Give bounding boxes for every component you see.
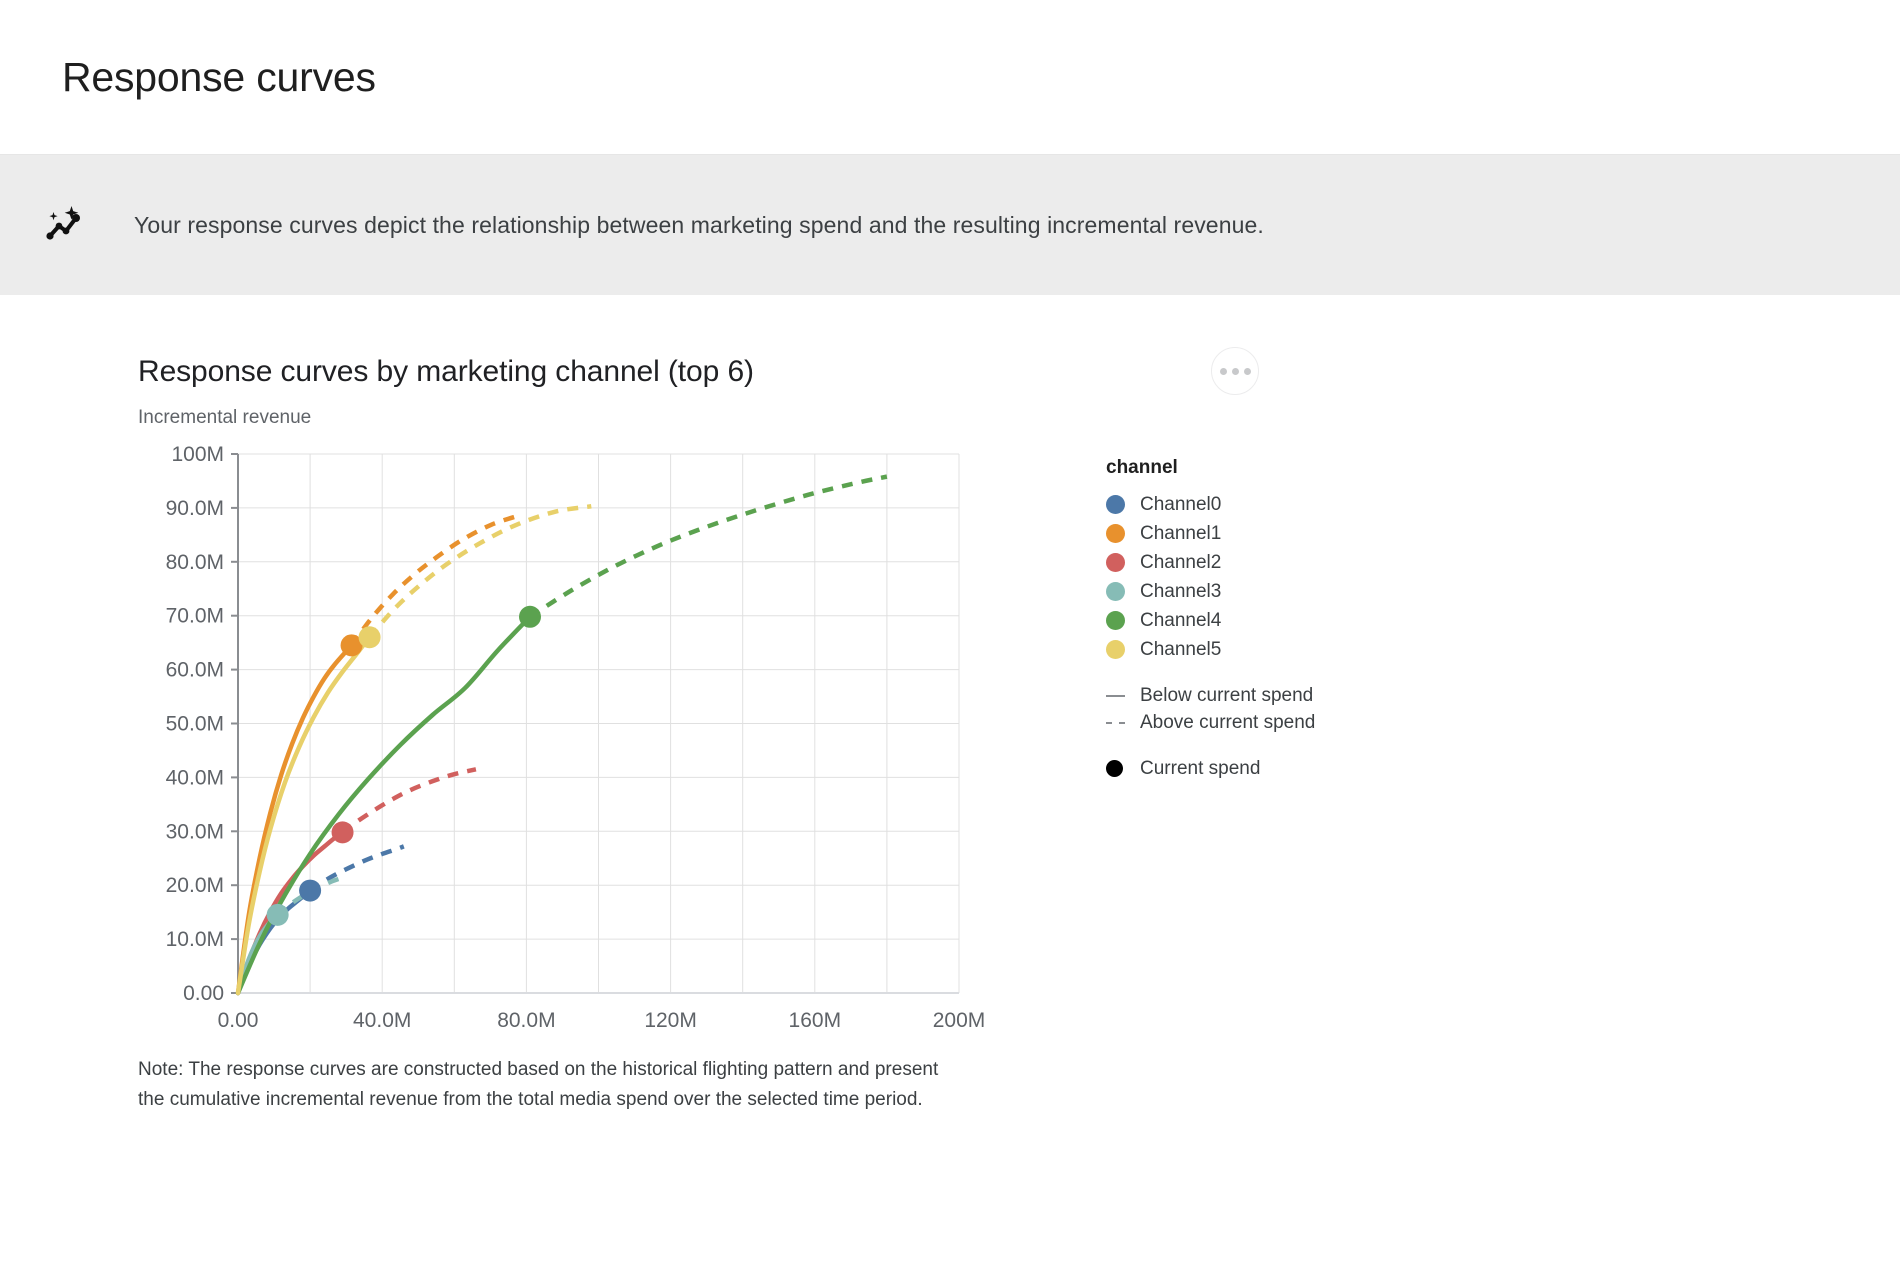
legend-item-channel4[interactable]: Channel4 [1106,606,1386,635]
legend-title: channel [1106,457,1386,479]
legend-label-current-spend: Current spend [1140,758,1260,780]
y-tick-label: 20.0M [166,874,224,897]
info-banner: Your response curves depict the relation… [0,155,1900,295]
legend-label: Channel1 [1140,523,1221,545]
y-tick-label: 50.0M [166,713,224,736]
chart-note: Note: The response curves are constructe… [138,1055,958,1115]
legend-swatch-icon [1106,611,1125,630]
legend-spacer [1106,664,1386,682]
legend-item-channel2[interactable]: Channel2 [1106,548,1386,577]
x-tick-label: 0.00 [218,1009,259,1032]
banner-text: Your response curves depict the relation… [134,212,1264,239]
legend-spacer-2 [1106,736,1386,754]
legend-swatch-icon [1106,524,1125,543]
solid-line-icon [1106,686,1125,705]
y-tick-label: 70.0M [166,605,224,628]
legend-label: Above current spend [1140,712,1315,734]
current-spend-marker-channel4[interactable] [519,606,541,628]
x-tick-label: 80.0M [497,1009,555,1032]
curve-dashed-channel5 [370,506,592,637]
chart-legend: channel Channel0Channel1Channel2Channel3… [1106,457,1386,783]
more-dot-1 [1220,368,1227,375]
more-dot-2 [1232,368,1239,375]
legend-item-above-current-spend[interactable]: Above current spend [1106,709,1386,736]
current-spend-marker-channel3[interactable] [267,904,289,926]
legend-swatch-icon [1106,553,1125,572]
response-curves-card: Response curves by marketing channel (to… [0,295,1900,1115]
curve-dashed-channel2 [343,769,476,832]
legend-style-list: Below current spendAbove current spend [1106,682,1386,736]
legend-label: Channel3 [1140,581,1221,603]
legend-label: Channel0 [1140,494,1221,516]
current-spend-marker-channel5[interactable] [359,626,381,648]
current-spend-marker-channel2[interactable] [332,821,354,843]
legend-label: Channel5 [1140,639,1221,661]
dashed-line-icon [1106,713,1125,732]
x-tick-label: 160M [789,1009,842,1032]
legend-item-channel1[interactable]: Channel1 [1106,519,1386,548]
legend-item-channel3[interactable]: Channel3 [1106,577,1386,606]
legend-label: Below current spend [1140,685,1313,707]
y-tick-label: 80.0M [166,551,224,574]
more-options-button[interactable] [1211,347,1259,395]
curve-dashed-channel4 [530,477,887,617]
legend-swatch-icon [1106,495,1125,514]
x-tick-label: 40.0M [353,1009,411,1032]
y-tick-label: 10.0M [166,928,224,951]
curve-dashed-channel0 [310,846,404,890]
page-header: Response curves [0,0,1900,155]
legend-channel-list: Channel0Channel1Channel2Channel3Channel4… [1106,490,1386,664]
more-dot-3 [1244,368,1251,375]
y-tick-label: 60.0M [166,659,224,682]
legend-item-current-spend[interactable]: Current spend [1106,754,1386,783]
chart-title: Response curves by marketing channel (to… [138,355,1258,389]
y-tick-label: 40.0M [166,766,224,789]
x-tick-label: 200M [933,1009,986,1032]
card-header: Response curves by marketing channel (to… [138,355,1258,429]
page-title: Response curves [62,54,376,101]
legend-item-channel5[interactable]: Channel5 [1106,635,1386,664]
legend-label: Channel2 [1140,552,1221,574]
x-tick-label: 120M [644,1009,697,1032]
legend-item-below-current-spend[interactable]: Below current spend [1106,682,1386,709]
response-curves-page: Response curves Your response curves dep… [0,0,1900,1282]
y-tick-label: 0.00 [183,982,224,1005]
current-spend-marker-channel0[interactable] [299,880,321,902]
y-tick-label: 30.0M [166,820,224,843]
current-spend-marker-icon [1106,760,1123,777]
y-tick-label: 90.0M [166,497,224,520]
response-curves-chart: 0.0010.0M20.0M30.0M40.0M50.0M60.0M70.0M8… [138,443,1398,1043]
legend-item-channel0[interactable]: Channel0 [1106,490,1386,519]
y-tick-label: 100M [171,443,224,466]
curve-solid-channel2 [238,832,343,993]
chart-subtitle: Incremental revenue [138,407,1258,429]
insights-sparkle-icon [40,202,86,248]
legend-swatch-icon [1106,640,1125,659]
legend-label: Channel4 [1140,610,1221,632]
legend-swatch-icon [1106,582,1125,601]
